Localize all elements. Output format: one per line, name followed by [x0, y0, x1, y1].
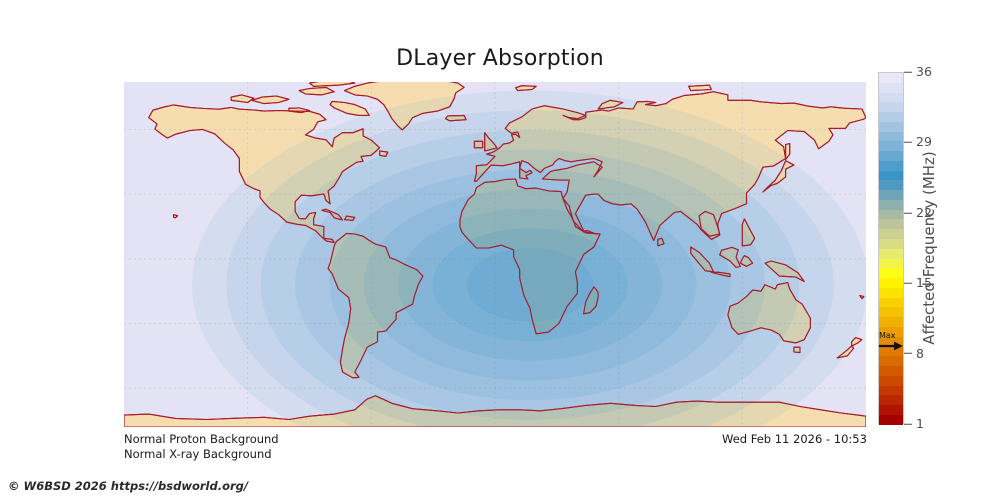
colorbar-band [879, 395, 903, 405]
colorbar-band [879, 356, 903, 366]
colorbar-band [879, 151, 903, 161]
colorbar-axis-label: Affected Frequency (MHz) [916, 72, 942, 424]
colorbar-band [879, 317, 903, 327]
colorbar-band [879, 229, 903, 239]
colorbar-max-marker: Max [878, 331, 904, 353]
colorbar-band [879, 405, 903, 415]
colorbar-band [879, 200, 903, 210]
map-canvas [124, 82, 866, 427]
xray-background-note: Normal X-ray Background [124, 447, 279, 462]
colorbar-band [879, 366, 903, 376]
colorbar-band [879, 93, 903, 103]
colorbar-band [879, 180, 903, 190]
background-notes: Normal Proton Background Normal X-ray Ba… [124, 432, 279, 462]
colorbar-band [879, 219, 903, 229]
colorbar[interactable]: Max 3629221581 [878, 72, 904, 424]
copyright-notice: © W6BSD 2026 https://bsdworld.org/ [8, 479, 248, 493]
colorbar-band [879, 132, 903, 142]
colorbar-gradient [878, 72, 904, 424]
world-map [124, 82, 866, 427]
colorbar-band [879, 112, 903, 122]
colorbar-band [879, 288, 903, 298]
arrow-right-icon [879, 341, 903, 351]
tick-dash [904, 142, 912, 143]
colorbar-band [879, 239, 903, 249]
colorbar-band [879, 249, 903, 259]
colorbar-band [879, 122, 903, 132]
colorbar-band [879, 415, 903, 425]
figure-root: DLayer Absorption Max 3629221581 Affecte… [0, 0, 1000, 500]
tick-dash [904, 72, 912, 73]
colorbar-band [879, 141, 903, 151]
tick-dash [904, 424, 912, 425]
colorbar-band [879, 376, 903, 386]
tick-dash [904, 353, 912, 354]
page-title: DLayer Absorption [0, 46, 1000, 71]
colorbar-band [879, 259, 903, 269]
colorbar-band [879, 83, 903, 93]
colorbar-band [879, 307, 903, 317]
timestamp: Wed Feb 11 2026 - 10:53 [722, 432, 867, 447]
proton-background-note: Normal Proton Background [124, 432, 279, 447]
colorbar-band [879, 210, 903, 220]
colorbar-band [879, 278, 903, 288]
tick-dash [904, 212, 912, 213]
colorbar-band [879, 102, 903, 112]
colorbar-max-label: Max [878, 331, 904, 340]
colorbar-band [879, 298, 903, 308]
colorbar-band [879, 386, 903, 396]
colorbar-band [879, 190, 903, 200]
colorbar-band [879, 268, 903, 278]
colorbar-band [879, 161, 903, 171]
colorbar-band [879, 73, 903, 83]
tick-dash [904, 283, 912, 284]
colorbar-band [879, 171, 903, 181]
